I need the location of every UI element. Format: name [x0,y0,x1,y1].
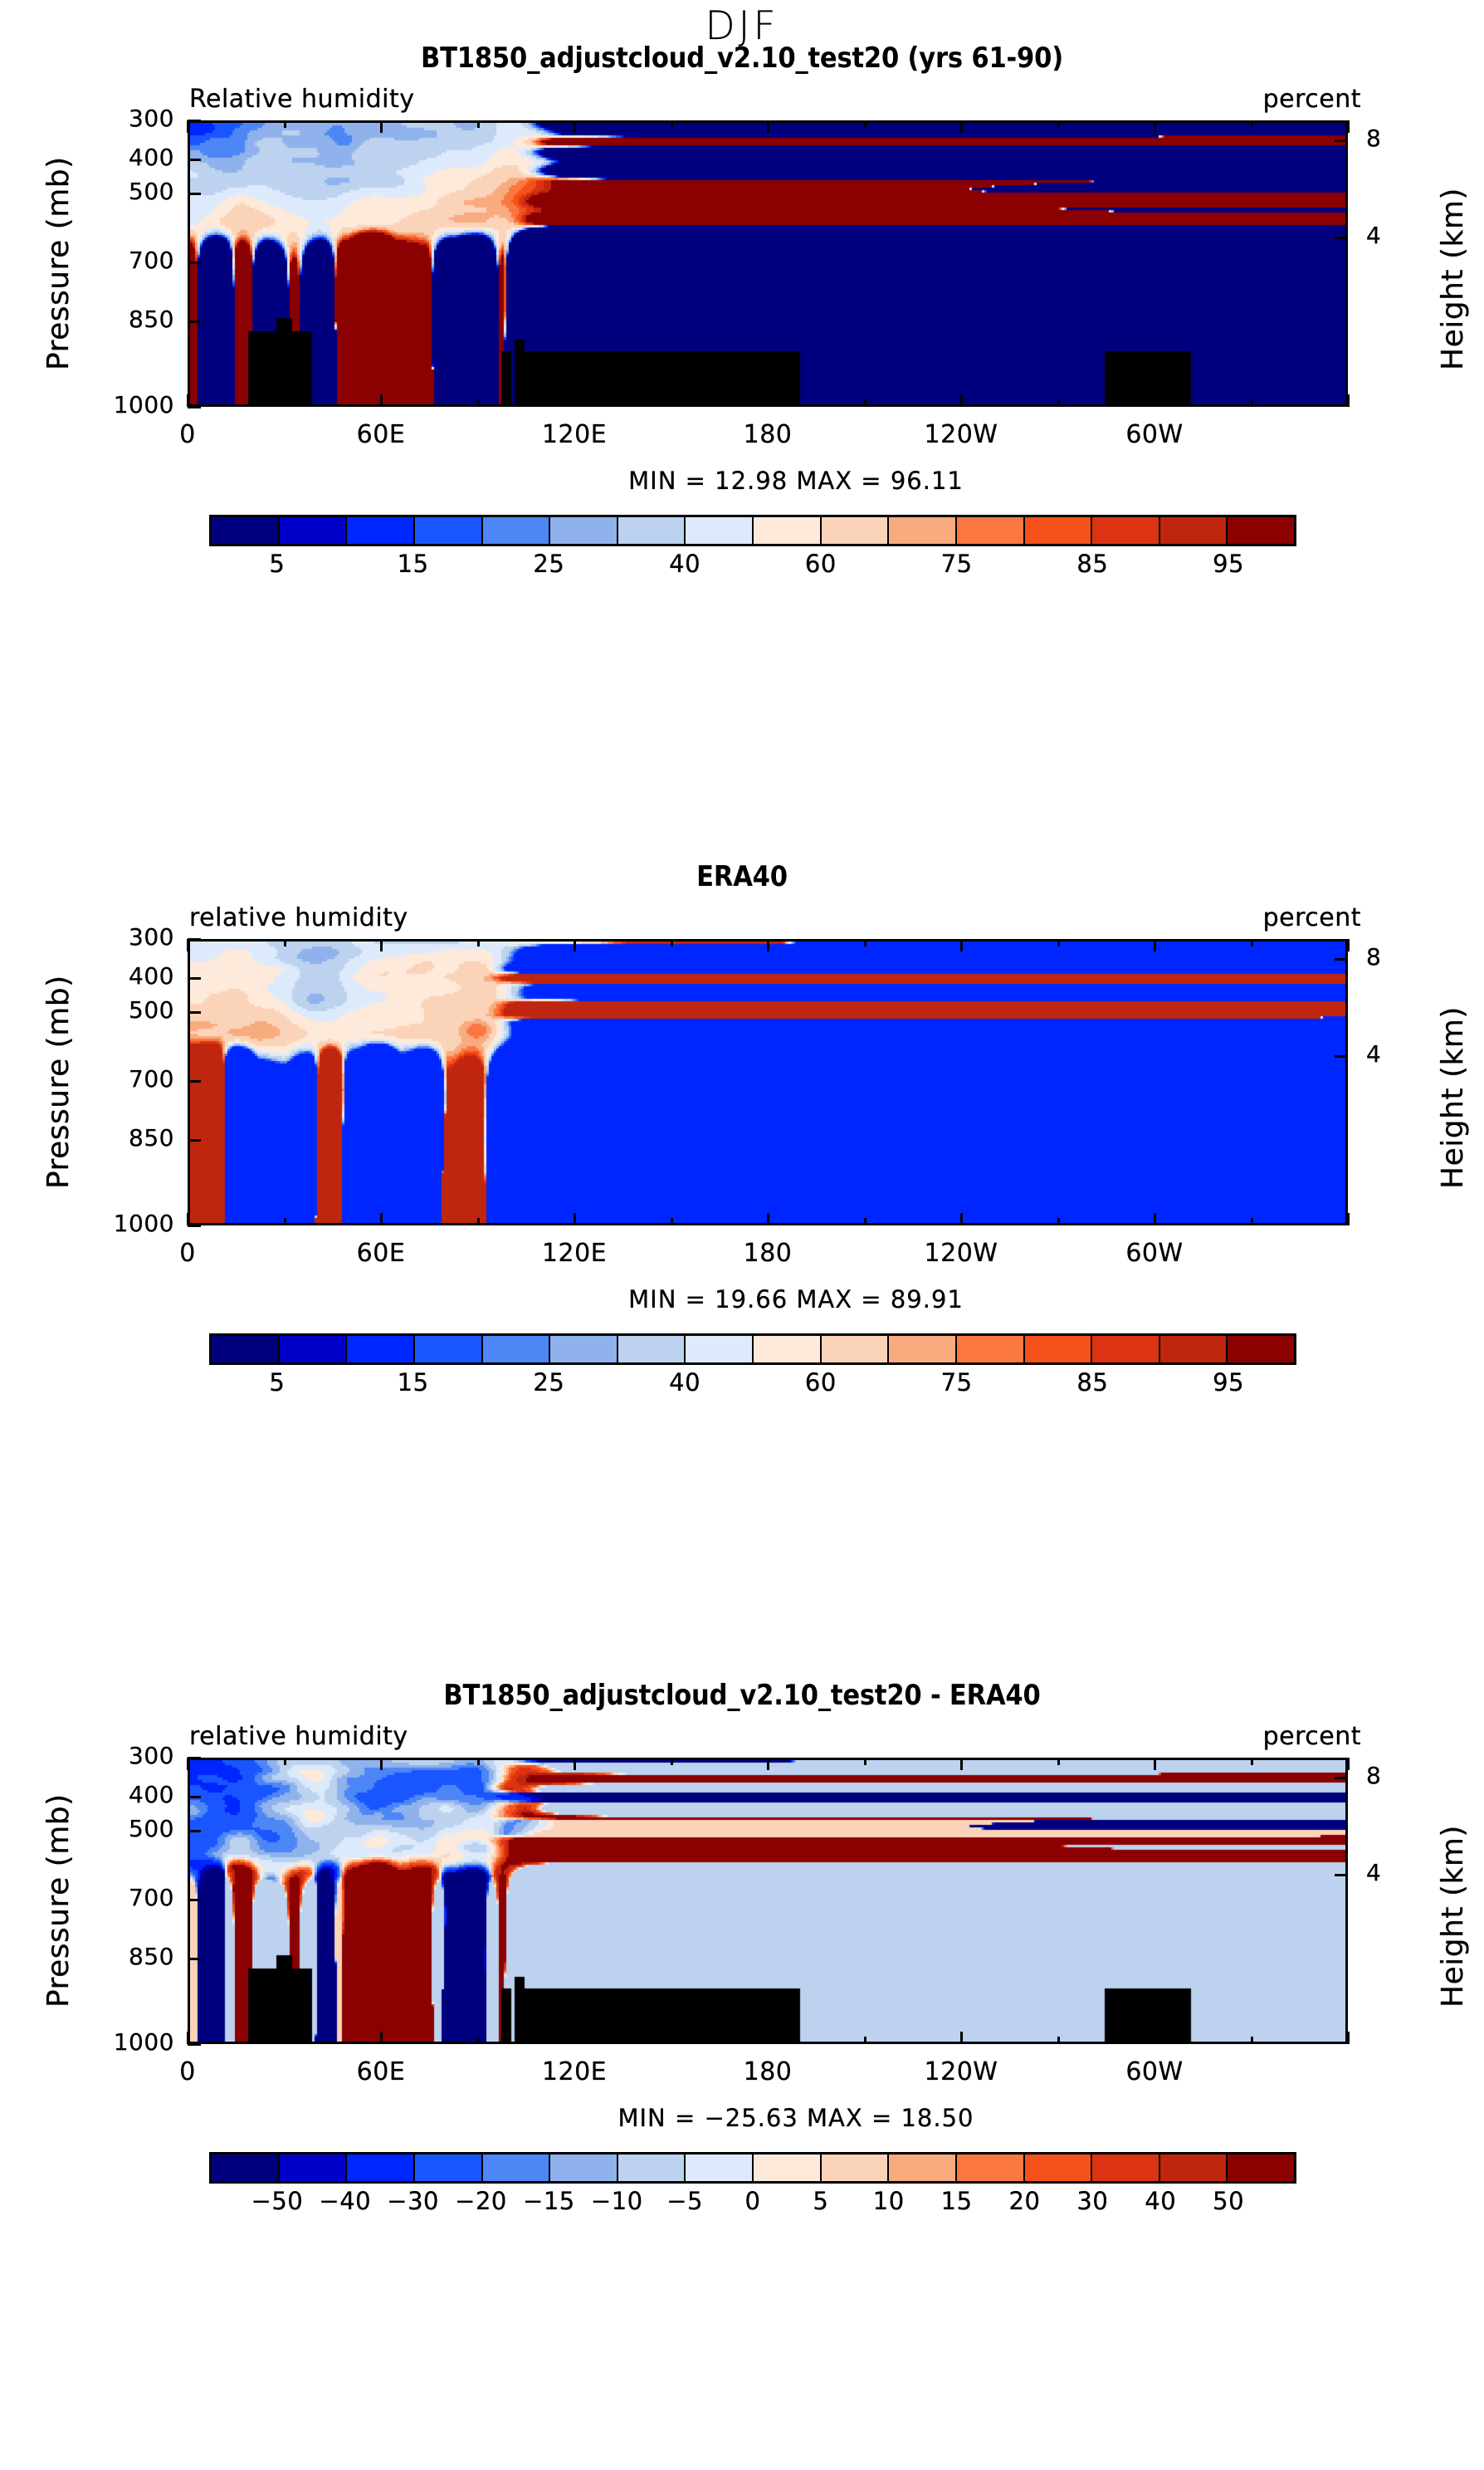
panel-title: BT1850_adjustcloud_v2.10_test20 - ERA40 [0,1679,1484,1712]
units-label: percent [1263,903,1361,932]
y-tick-label: 850 [83,1943,174,1970]
colorbar-cell [822,1336,890,1362]
x-tick [864,2037,866,2044]
x-tick-label: 60E [323,1239,439,1268]
y-tick [188,320,201,323]
minmax-text: MIN = 12.98 MAX = 96.11 [0,467,1484,495]
y-tick [188,262,201,264]
x-tick [767,1213,769,1225]
x-tick-label: 180 [710,420,826,449]
y2-axis-title: Height (km) [1436,1825,1470,2008]
y-tick-label: 300 [83,923,174,951]
y-tick [188,977,201,980]
colorbar-labels: −50−40−30−20−15−10−505101520304050 [209,2187,1296,2220]
x-tick-top [574,120,576,133]
x-tick [187,2032,189,2044]
colorbar-cell [822,517,890,544]
x-tick-label: 0 [129,2057,246,2086]
y-tick-label: 400 [83,962,174,990]
x-tick-top [574,939,576,951]
x-tick-label: 180 [710,1239,826,1268]
colorbar-cell [686,2155,754,2181]
variable-label: relative humidity [189,1722,408,1751]
colorbar-cell [686,1336,754,1362]
y-tick [188,1899,201,1901]
y-tick-label: 1000 [83,1210,174,1237]
x-tick-label: 60W [1096,2057,1213,2086]
x-tick-top [671,1758,673,1765]
x-tick [960,2032,963,2044]
y-tick [188,1225,201,1227]
colorbar-cell [889,517,957,544]
x-tick [1057,2037,1060,2044]
x-tick [767,394,769,407]
x-tick-label: 120W [903,2057,1019,2086]
y2-tick-label: 8 [1366,125,1424,152]
x-tick-top [864,1758,866,1765]
x-tick-label: 120W [903,1239,1019,1268]
colorbar-cell [550,1336,618,1362]
x-tick-top [187,120,189,133]
x-tick-label: 60E [323,420,439,449]
x-tick-top [1057,939,1060,946]
colorbar-tick-label: 5 [227,1368,327,1396]
contour-canvas [190,123,1345,404]
y-tick [188,1011,201,1014]
x-tick-top [380,120,383,133]
colorbar-cell [483,517,551,544]
colorbar-cell [280,517,348,544]
y-axis-title: Pressure (mb) [41,156,76,370]
colorbar-cell [212,517,280,544]
x-tick-top [767,1758,769,1770]
y-tick-label: 700 [83,1065,174,1093]
x-tick [477,1218,480,1225]
colorbar-cell [889,2155,957,2181]
y-tick-label: 500 [83,1815,174,1842]
y2-tick-label: 4 [1366,1859,1424,1886]
colorbar-cell [415,517,483,544]
x-tick-label: 60E [323,2057,439,2086]
y-tick [188,1757,201,1759]
x-tick-top [187,939,189,951]
x-tick [1154,394,1156,407]
x-tick [1251,399,1253,407]
y2-tick-label: 8 [1366,943,1424,971]
colorbar-tick-label: 85 [1042,1368,1142,1396]
x-tick-top [767,120,769,133]
colorbar [209,515,1296,546]
colorbar-cell [347,517,415,544]
y-tick-label: 700 [83,1884,174,1911]
colorbar-cell [754,1336,822,1362]
x-tick [574,1213,576,1225]
x-tick-top [671,939,673,946]
x-tick [1154,1213,1156,1225]
x-tick-top [1154,1758,1156,1770]
x-tick-top [1251,939,1253,946]
x-tick [864,1218,866,1225]
y-tick [188,938,201,941]
x-tick-top [960,1758,963,1770]
x-tick [960,1213,963,1225]
colorbar-tick-label: 5 [227,550,327,578]
panel-title: BT1850_adjustcloud_v2.10_test20 (yrs 61-… [0,42,1484,75]
x-tick-top [864,120,866,128]
x-tick-top [1154,939,1156,951]
y-tick-label: 400 [83,1781,174,1808]
colorbar-cell [618,1336,686,1362]
colorbar-cell [483,1336,551,1362]
x-tick-label: 180 [710,2057,826,2086]
colorbar-cell [1025,1336,1093,1362]
x-tick-top [477,939,480,946]
x-tick [1347,394,1350,407]
colorbar-cell [754,2155,822,2181]
x-tick [284,399,286,407]
colorbar-cell [889,1336,957,1362]
colorbar-cell [618,517,686,544]
colorbar-tick-label: 75 [907,1368,1007,1396]
x-tick-label: 0 [129,420,246,449]
x-tick-top [1057,120,1060,128]
x-tick-top [960,939,963,951]
colorbar-cell [1160,517,1228,544]
variable-label: Relative humidity [189,85,415,114]
colorbar-labels: 515254060758595 [209,550,1296,583]
y-tick-label: 500 [83,996,174,1024]
x-tick [1057,399,1060,407]
y-tick [188,1958,201,1960]
x-tick-label: 120E [516,2057,632,2086]
y2-tick [1335,1874,1348,1876]
y-tick-label: 1000 [83,391,174,418]
y2-axis-title: Height (km) [1436,1006,1470,1189]
x-tick-top [284,939,286,946]
colorbar-cell [415,2155,483,2181]
colorbar-cell [1228,1336,1294,1362]
x-tick [1347,2032,1350,2044]
contour-canvas [190,942,1345,1223]
x-tick [1154,2032,1156,2044]
colorbar-cell [822,2155,890,2181]
colorbar [209,2152,1296,2184]
y2-tick-label: 4 [1366,222,1424,249]
x-tick [380,2032,383,2044]
colorbar-cell [212,1336,280,1362]
x-tick-top [477,120,480,128]
x-tick-top [477,1758,480,1765]
y-tick-label: 1000 [83,2028,174,2056]
x-tick [864,399,866,407]
y2-axis-title: Height (km) [1436,188,1470,370]
colorbar-cell [280,1336,348,1362]
y-tick-label: 300 [83,1742,174,1769]
y-tick [188,1139,201,1142]
colorbar-tick-label: 95 [1179,1368,1278,1396]
x-tick-top [284,1758,286,1765]
colorbar-cell [957,1336,1025,1362]
y-tick [188,1080,201,1083]
y2-tick [1335,139,1348,142]
y2-tick [1335,237,1348,239]
y-tick [188,120,201,122]
contour-plot [188,939,1348,1225]
colorbar-tick-label: 75 [907,550,1007,578]
y2-tick [1335,1777,1348,1779]
contour-plot [188,1758,1348,2044]
minmax-text: MIN = −25.63 MAX = 18.50 [0,2104,1484,2132]
colorbar-cell [1025,2155,1093,2181]
contour-plot [188,120,1348,407]
colorbar-cell [212,2155,280,2181]
y-tick [188,1830,201,1832]
contour-canvas [190,1760,1345,2042]
colorbar-tick-label: 40 [635,550,735,578]
minmax-text: MIN = 19.66 MAX = 89.91 [0,1285,1484,1313]
y2-tick-label: 8 [1366,1762,1424,1789]
x-tick [477,399,480,407]
x-tick-top [1154,120,1156,133]
x-tick [380,1213,383,1225]
colorbar-cell [957,2155,1025,2181]
x-tick-label: 0 [129,1239,246,1268]
x-tick-top [380,939,383,951]
colorbar-tick-label: 95 [1179,550,1278,578]
x-tick [574,2032,576,2044]
colorbar [209,1333,1296,1365]
y-axis-title: Pressure (mb) [41,975,76,1189]
y2-tick [1335,1055,1348,1058]
units-label: percent [1263,85,1361,114]
panel-title: ERA40 [0,860,1484,893]
x-tick-top [574,1758,576,1770]
x-tick-top [1057,1758,1060,1765]
x-tick-top [187,1758,189,1770]
y-tick [188,2043,201,2046]
colorbar-cell [1160,1336,1228,1362]
colorbar-tick-label: 25 [499,550,598,578]
y-tick [188,193,201,195]
x-tick [767,2032,769,2044]
x-tick-label: 120E [516,420,632,449]
x-tick [477,2037,480,2044]
x-tick-top [960,120,963,133]
units-label: percent [1263,1722,1361,1751]
x-tick [1251,2037,1253,2044]
y2-tick-label: 4 [1366,1040,1424,1068]
x-tick [1251,1218,1253,1225]
x-tick [1057,1218,1060,1225]
colorbar-cell [1160,2155,1228,2181]
colorbar-cell [1092,2155,1160,2181]
x-tick [574,394,576,407]
x-tick [380,394,383,407]
colorbar-cell [415,1336,483,1362]
colorbar-cell [1092,1336,1160,1362]
colorbar-tick-label: 15 [364,550,463,578]
colorbar-cell [347,1336,415,1362]
variable-label: relative humidity [189,903,408,932]
y-tick-label: 850 [83,1124,174,1152]
x-tick-label: 120E [516,1239,632,1268]
x-tick [187,394,189,407]
colorbar-tick-label: 50 [1179,2187,1278,2215]
x-tick-label: 60W [1096,1239,1213,1268]
x-tick-top [671,120,673,128]
x-tick-top [1251,120,1253,128]
colorbar-cell [1228,2155,1294,2181]
x-tick [671,2037,673,2044]
colorbar-cell [483,2155,551,2181]
colorbar-tick-label: 40 [635,1368,735,1396]
x-tick [960,394,963,407]
colorbar-cell [550,2155,618,2181]
x-tick-top [380,1758,383,1770]
y-tick [188,406,201,408]
colorbar-cell [686,517,754,544]
y2-tick [1335,958,1348,961]
colorbar-cell [1228,517,1294,544]
colorbar-tick-label: 25 [499,1368,598,1396]
x-tick [1347,1213,1350,1225]
colorbar-cell [280,2155,348,2181]
colorbar-cell [347,2155,415,2181]
y-tick [188,159,201,161]
x-tick-top [1347,1758,1350,1770]
colorbar-tick-label: 15 [364,1368,463,1396]
colorbar-cell [1092,517,1160,544]
x-tick-label: 60W [1096,420,1213,449]
x-tick [671,399,673,407]
y-tick-label: 700 [83,247,174,274]
colorbar-labels: 515254060758595 [209,1368,1296,1401]
x-tick-top [864,939,866,946]
x-tick-label: 120W [903,420,1019,449]
y-tick-label: 300 [83,105,174,132]
y-tick-label: 500 [83,178,174,205]
x-tick [187,1213,189,1225]
y-axis-title: Pressure (mb) [41,1793,76,2008]
x-tick-top [1251,1758,1253,1765]
colorbar-cell [550,517,618,544]
x-tick-top [1347,120,1350,133]
colorbar-tick-label: 60 [771,550,871,578]
colorbar-tick-label: 60 [771,1368,871,1396]
colorbar-cell [1025,517,1093,544]
y-tick-label: 400 [83,144,174,171]
colorbar-cell [754,517,822,544]
x-tick-top [767,939,769,951]
x-tick [284,2037,286,2044]
colorbar-tick-label: 85 [1042,550,1142,578]
x-tick-top [284,120,286,128]
colorbar-cell [957,517,1025,544]
x-tick [671,1218,673,1225]
x-tick [284,1218,286,1225]
x-tick-top [1347,939,1350,951]
y-tick-label: 850 [83,306,174,333]
y-tick [188,1796,201,1798]
colorbar-cell [618,2155,686,2181]
